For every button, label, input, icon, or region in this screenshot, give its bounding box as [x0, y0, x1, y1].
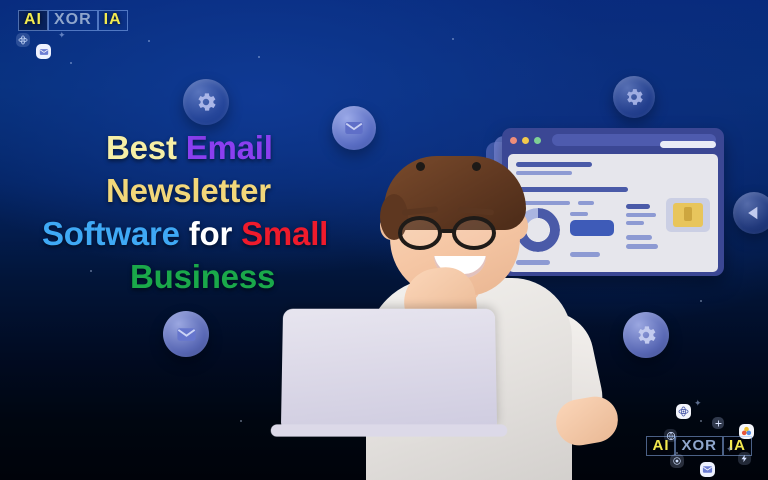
headline-word-for: for	[189, 215, 232, 252]
glasses-lens-right	[452, 216, 496, 250]
star-speck	[240, 420, 242, 422]
star-speck	[700, 300, 702, 302]
brand-logo-top-left: AI XOR IA	[18, 10, 128, 31]
content-bar	[626, 204, 650, 209]
gear-icon	[183, 79, 229, 125]
gear-icon	[623, 312, 669, 358]
content-bar	[626, 244, 658, 249]
envelope-icon	[163, 311, 209, 357]
traffic-light-close-icon	[510, 137, 517, 144]
star-speck	[258, 56, 260, 58]
laptop-illustration	[281, 309, 497, 429]
logo-part-xor: XOR	[675, 436, 723, 456]
atom-icon	[16, 33, 30, 47]
glasses-lens-left	[398, 216, 442, 250]
mail-app-icon	[700, 462, 715, 477]
headline-word-email: Email	[186, 129, 273, 166]
traffic-light-maximize-icon	[534, 137, 541, 144]
headline-line-1: Best Email	[40, 126, 380, 169]
headline-line-4: Business	[40, 255, 380, 298]
sparkle-icon: ✦	[694, 398, 702, 409]
traffic-light-minimize-icon	[522, 137, 529, 144]
plus-icon	[712, 417, 724, 429]
logo-part-ia: IA	[98, 10, 128, 31]
star-speck	[148, 40, 150, 42]
brand-logo-bottom-right: AI XOR IA	[646, 436, 752, 456]
headline-line-3: Software for Small	[40, 212, 380, 255]
headline-word-small: Small	[241, 215, 328, 252]
headline-word-best: Best	[106, 129, 177, 166]
hero-canvas: AI XOR IA ✦ Best Email Newsletter Softwa…	[0, 0, 768, 480]
browser-address-highlight	[660, 141, 716, 148]
headline-line-2: Newsletter	[40, 169, 380, 212]
logo-part-ai: AI	[18, 10, 48, 31]
star-speck	[700, 420, 702, 422]
content-bar	[626, 213, 656, 217]
headline-word-software: Software	[42, 215, 180, 252]
glasses-bridge	[441, 229, 455, 233]
envelope-icon	[332, 106, 376, 150]
bolt-icon	[738, 452, 751, 465]
settings-icon	[670, 454, 684, 468]
character-eye-left	[416, 162, 425, 171]
sparkle-icon: ✦	[726, 444, 734, 455]
gear-icon	[613, 76, 655, 118]
character-eye-right	[472, 162, 481, 171]
logo-part-xor: XOR	[48, 10, 98, 31]
headline-word-newsletter: Newsletter	[106, 172, 271, 209]
star-speck	[452, 38, 454, 40]
star-speck	[70, 62, 72, 64]
page-title: Best Email Newsletter Software for Small…	[40, 126, 380, 298]
mail-app-icon	[36, 44, 51, 59]
glasses-icon	[396, 216, 518, 250]
id-card-body	[673, 203, 703, 227]
content-bar	[626, 235, 652, 240]
logo-part-ai: AI	[646, 436, 675, 456]
atom-icon	[676, 404, 691, 419]
id-card-icon	[666, 198, 710, 232]
content-bar	[626, 221, 644, 225]
headline-word-business: Business	[130, 258, 275, 295]
browser-titlebar	[502, 128, 724, 152]
play-arrow-icon	[733, 192, 768, 234]
sparkle-icon: ✦	[58, 30, 66, 41]
